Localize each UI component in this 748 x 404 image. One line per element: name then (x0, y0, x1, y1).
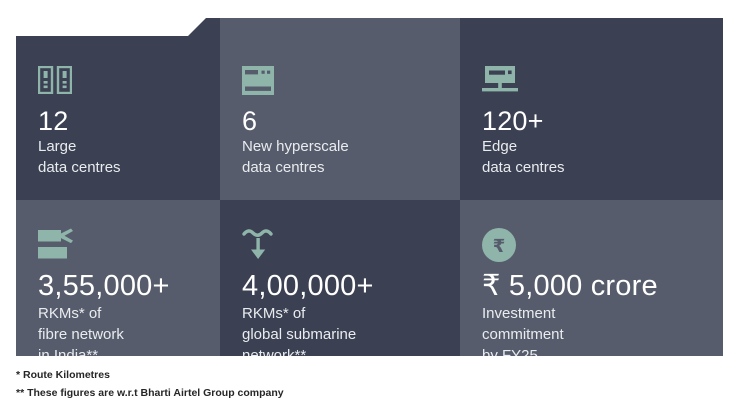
stat-card-content: 3,55,000+ RKMs* of fibre network in Indi… (38, 270, 206, 356)
stat-value: 120+ (482, 106, 709, 136)
stat-card-content: 120+ Edge data centres (482, 106, 709, 178)
submarine-wave-arrow-icon (242, 228, 276, 262)
stat-label-line: fibre network (38, 324, 206, 345)
stat-label: RKMs* of fibre network in India** (38, 303, 206, 356)
stat-card-content: 12 Large data centres (38, 106, 206, 178)
stat-value: 4,00,000+ (242, 270, 446, 303)
stat-card-fibre-network-rkms: 3,55,000+ RKMs* of fibre network in Indi… (16, 200, 220, 356)
footnote-route-kilometres: * Route Kilometres (16, 366, 716, 384)
footnote-bharti-airtel-group: ** These figures are w.r.t Bharti Airtel… (16, 384, 716, 402)
monitor-stand-icon (482, 66, 518, 93)
stat-label-line: data centres (242, 157, 446, 178)
stat-label-line: data centres (482, 157, 709, 178)
stat-label-line: RKMs* of (242, 303, 446, 324)
cable-connector-icon (38, 228, 78, 260)
footnotes: * Route Kilometres ** These figures are … (16, 366, 716, 402)
stat-value: 6 (242, 106, 446, 136)
stats-panel: 12 Large data centres 6 (16, 18, 723, 356)
stat-card-content: 4,00,000+ RKMs* of global submarine netw… (242, 270, 446, 356)
stat-label-line: in India** (38, 345, 206, 356)
stat-card-edge-data-centres: 120+ Edge data centres (460, 18, 723, 200)
svg-text:₹: ₹ (493, 236, 506, 257)
stat-label: Large data centres (38, 136, 206, 178)
stat-label-line: New hyperscale (242, 136, 446, 157)
stat-card-new-hyperscale-data-centres: 6 New hyperscale data centres (220, 18, 460, 200)
stat-label-line: Large (38, 136, 206, 157)
stat-label-line: network** (242, 345, 446, 356)
stat-card-content: 6 New hyperscale data centres (242, 106, 446, 178)
stat-value: ₹ 5,000 crore (482, 270, 709, 303)
stat-card-global-submarine-network-rkms: 4,00,000+ RKMs* of global submarine netw… (220, 200, 460, 356)
stat-label: RKMs* of global submarine network** (242, 303, 446, 356)
stat-label: Investment commitment by FY25 (482, 303, 709, 356)
stat-label-line: commitment (482, 324, 709, 345)
stat-label: New hyperscale data centres (242, 136, 446, 178)
stat-label-line: global submarine (242, 324, 446, 345)
stat-card-content: ₹ 5,000 crore Investment commitment by F… (482, 270, 709, 356)
stat-value: 12 (38, 106, 206, 136)
stat-label-line: Edge (482, 136, 709, 157)
stat-label: Edge data centres (482, 136, 709, 178)
stat-label-line: Investment (482, 303, 709, 324)
stat-card-investment-commitment: ₹ ₹ 5,000 crore Investment commitment by… (460, 200, 723, 356)
stat-card-large-data-centres: 12 Large data centres (16, 18, 220, 200)
stat-label-line: by FY25 (482, 345, 709, 356)
stat-value: 3,55,000+ (38, 270, 206, 303)
server-panel-icon (242, 66, 274, 95)
stat-label-line: RKMs* of (38, 303, 206, 324)
stat-label-line: data centres (38, 157, 206, 178)
stats-infographic: 12 Large data centres 6 (0, 0, 748, 404)
server-racks-icon (38, 66, 72, 94)
rupee-circle-icon: ₹ (482, 228, 516, 262)
